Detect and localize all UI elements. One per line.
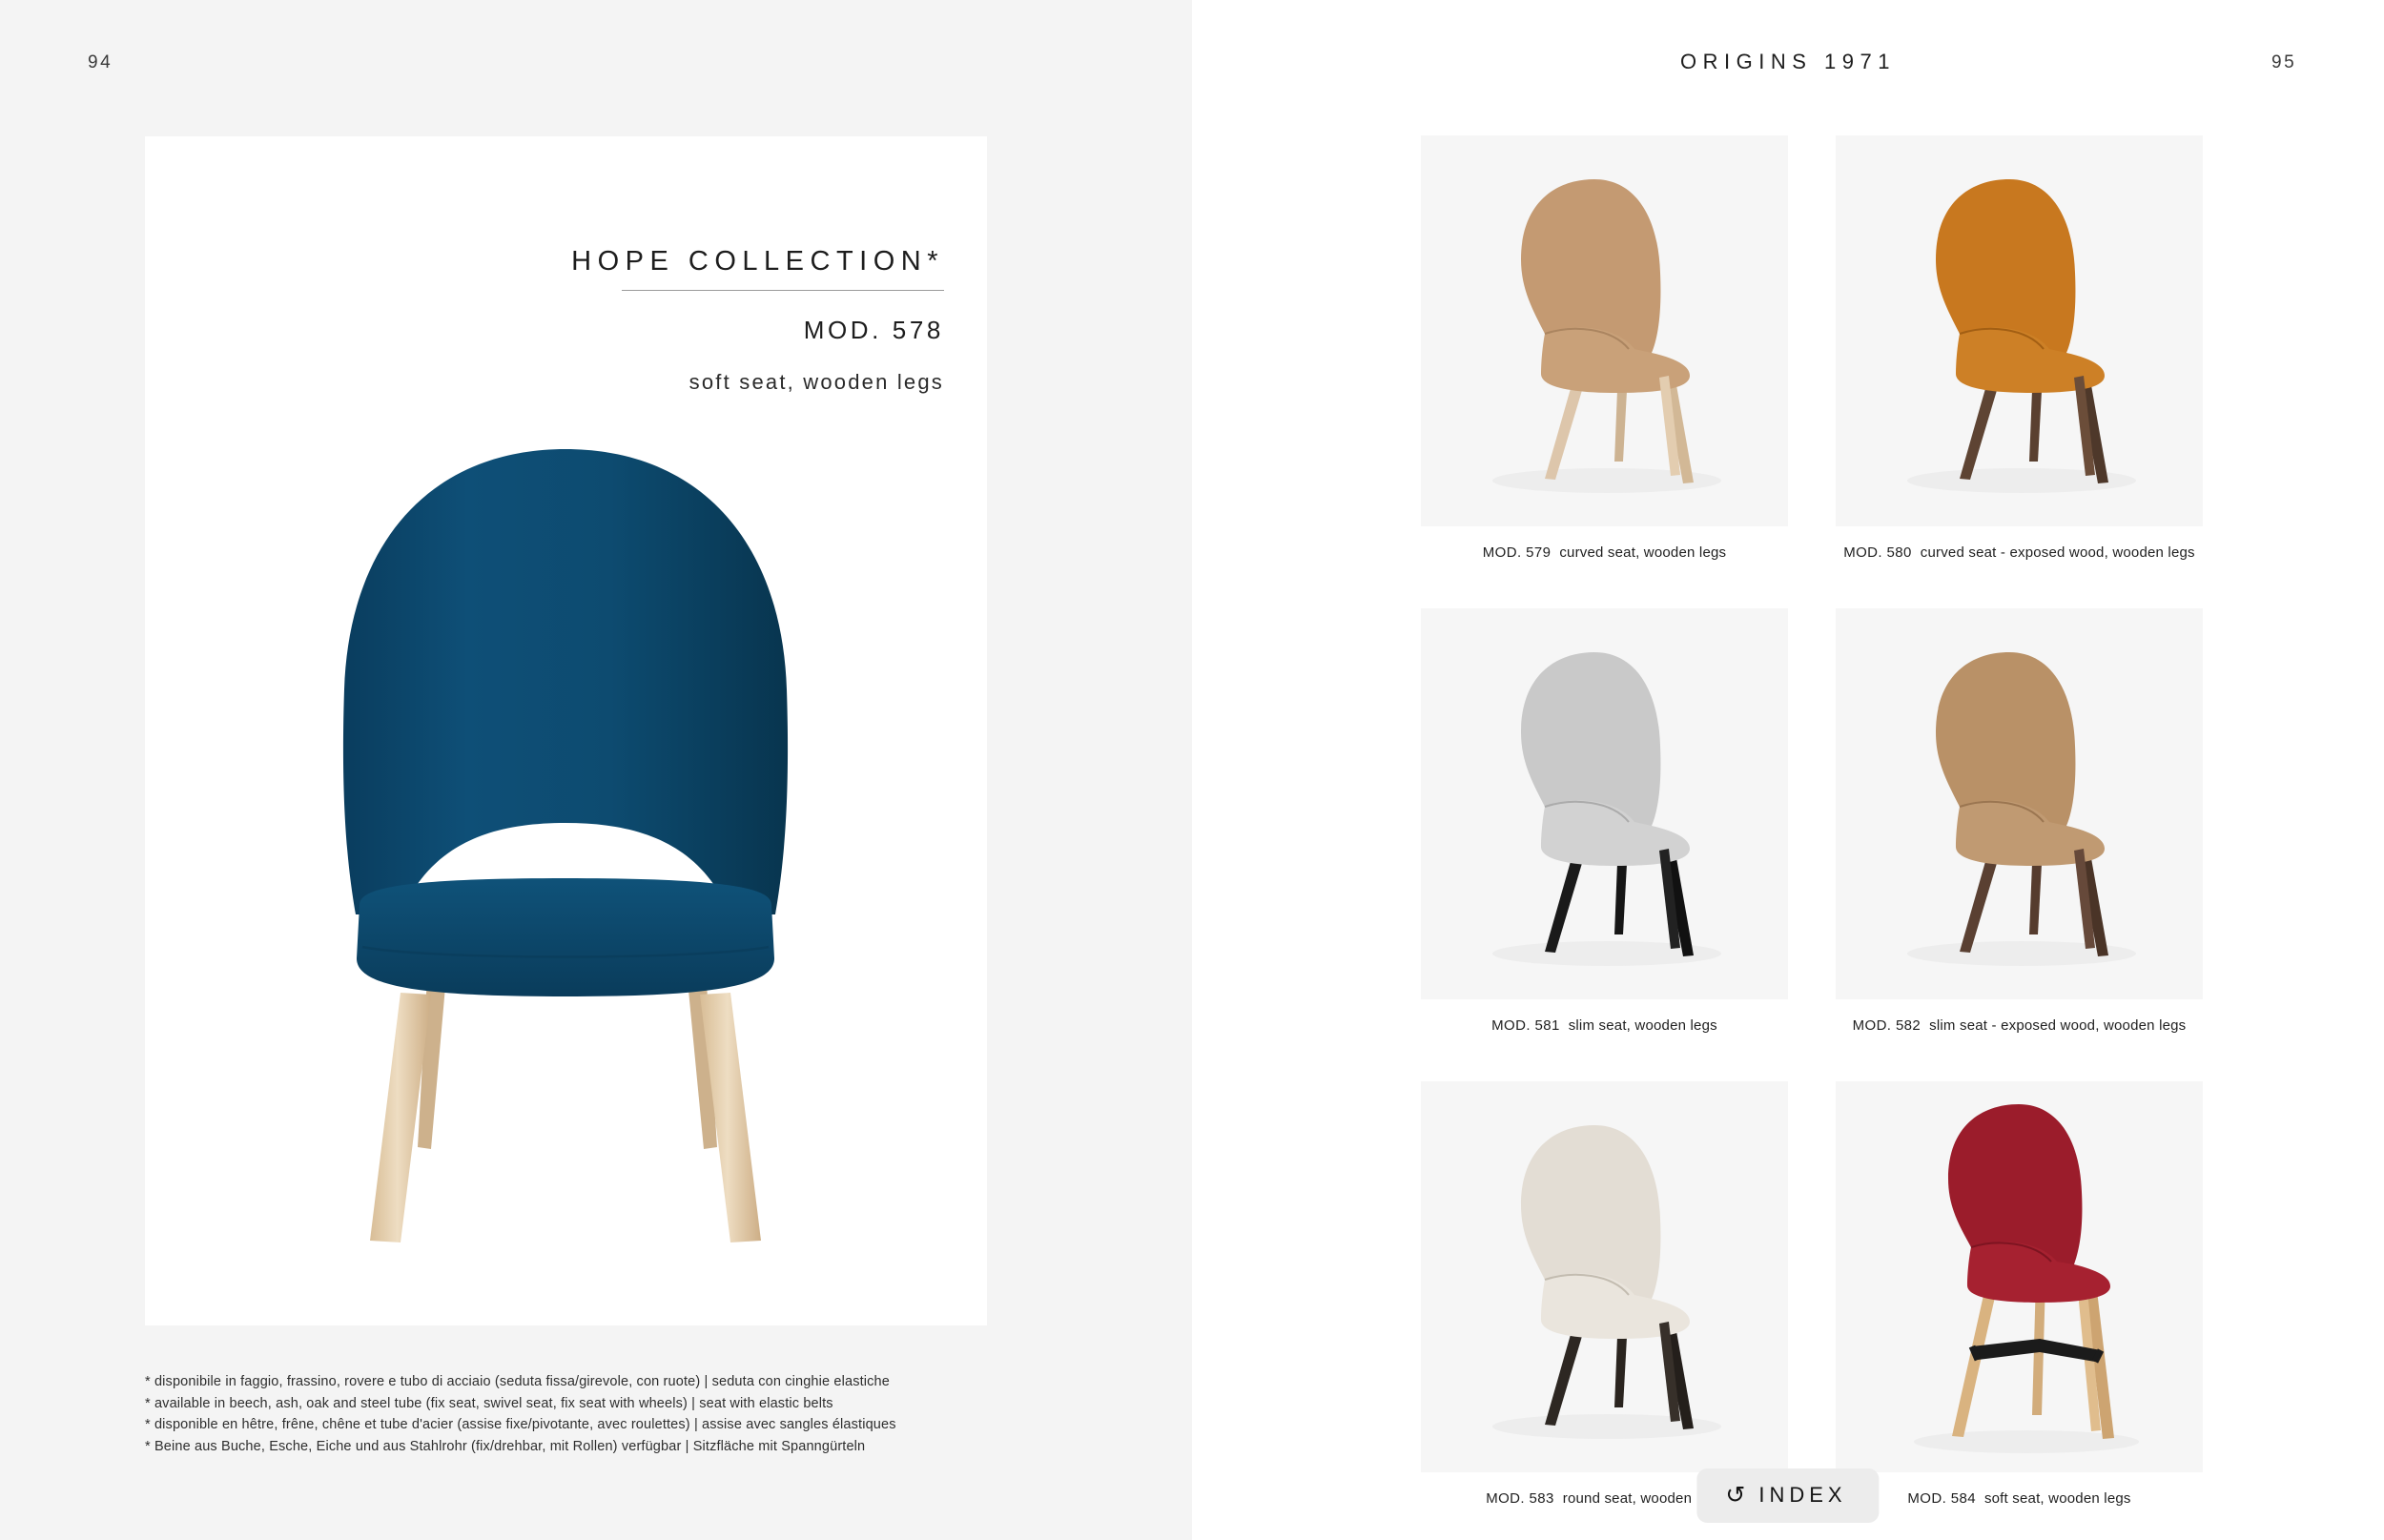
left-page: 94 HOPE COLLECTION* MOD. 578 soft seat, … [0,0,1192,1540]
page-number-left: 94 [88,52,113,73]
product-model: MOD. 579 [1483,544,1552,561]
product-cell[interactable]: MOD. 580curved seat - exposed wood, wood… [1836,135,2203,563]
product-image-581[interactable] [1421,608,1788,999]
collection-title: HOPE COLLECTION* [571,246,944,277]
product-caption: MOD. 584soft seat, wooden legs [1836,1489,2203,1509]
footnote-it: * disponibile in faggio, frassino, rover… [145,1371,1003,1393]
catalog-spread: 94 HOPE COLLECTION* MOD. 578 soft seat, … [0,0,2384,1540]
index-button[interactable]: ↺ INDEX [1696,1468,1879,1523]
back-arrow-icon: ↺ [1725,1484,1745,1508]
product-grid-row: MOD. 583round seat, wooden legs [1421,1081,2203,1509]
model-number: MOD. 578 [571,316,944,345]
product-grid-row: MOD. 579curved seat, wooden legs [1421,135,2203,563]
footnote-en: * available in beech, ash, oak and steel… [145,1393,1003,1415]
product-description: slim seat - exposed wood, wooden legs [1929,1017,2186,1034]
product-description: slim seat, wooden legs [1569,1017,1717,1034]
blue-chair-photo [145,375,987,1281]
product-model: MOD. 580 [1843,544,1912,561]
footnote-block: * disponibile in faggio, frassino, rover… [145,1371,1003,1457]
product-image-580[interactable] [1836,135,2203,526]
footnote-fr: * disponible en hêtre, frêne, chêne et t… [145,1414,1003,1436]
index-button-label: INDEX [1758,1483,1846,1508]
product-cell[interactable]: MOD. 584soft seat, wooden legs [1836,1081,2203,1509]
product-model: MOD. 581 [1491,1017,1560,1034]
product-caption: MOD. 580curved seat - exposed wood, wood… [1836,543,2203,563]
product-cell[interactable]: MOD. 579curved seat, wooden legs [1421,135,1788,563]
product-model: MOD. 583 [1486,1490,1554,1507]
product-image-584[interactable] [1836,1081,2203,1472]
product-image-579[interactable] [1421,135,1788,526]
product-cell[interactable]: MOD. 583round seat, wooden legs [1421,1081,1788,1509]
collection-title-block: HOPE COLLECTION* MOD. 578 soft seat, woo… [571,246,944,395]
product-image-583[interactable] [1421,1081,1788,1472]
product-description: curved seat - exposed wood, wooden legs [1921,544,2195,561]
product-description: curved seat, wooden legs [1559,544,1726,561]
title-divider [622,290,944,291]
hero-photo-panel: HOPE COLLECTION* MOD. 578 soft seat, woo… [145,136,987,1325]
product-grid: MOD. 579curved seat, wooden legs [1421,135,2203,1509]
product-model: MOD. 584 [1907,1490,1976,1507]
product-image-582[interactable] [1836,608,2203,999]
right-page: 95 ORIGINS 1971 [1192,0,2384,1540]
product-model: MOD. 582 [1853,1017,1922,1034]
product-description: soft seat, wooden legs [1984,1490,2131,1507]
product-caption: MOD. 582slim seat - exposed wood, wooden… [1836,1016,2203,1036]
product-grid-row: MOD. 581slim seat, wooden legs [1421,608,2203,1036]
product-caption: MOD. 579curved seat, wooden legs [1421,543,1788,563]
footnote-de: * Beine aus Buche, Esche, Eiche und aus … [145,1436,1003,1458]
page-header-title: ORIGINS 1971 [1192,50,2384,74]
product-cell[interactable]: MOD. 582slim seat - exposed wood, wooden… [1836,608,2203,1036]
product-cell[interactable]: MOD. 581slim seat, wooden legs [1421,608,1788,1036]
product-caption: MOD. 581slim seat, wooden legs [1421,1016,1788,1036]
